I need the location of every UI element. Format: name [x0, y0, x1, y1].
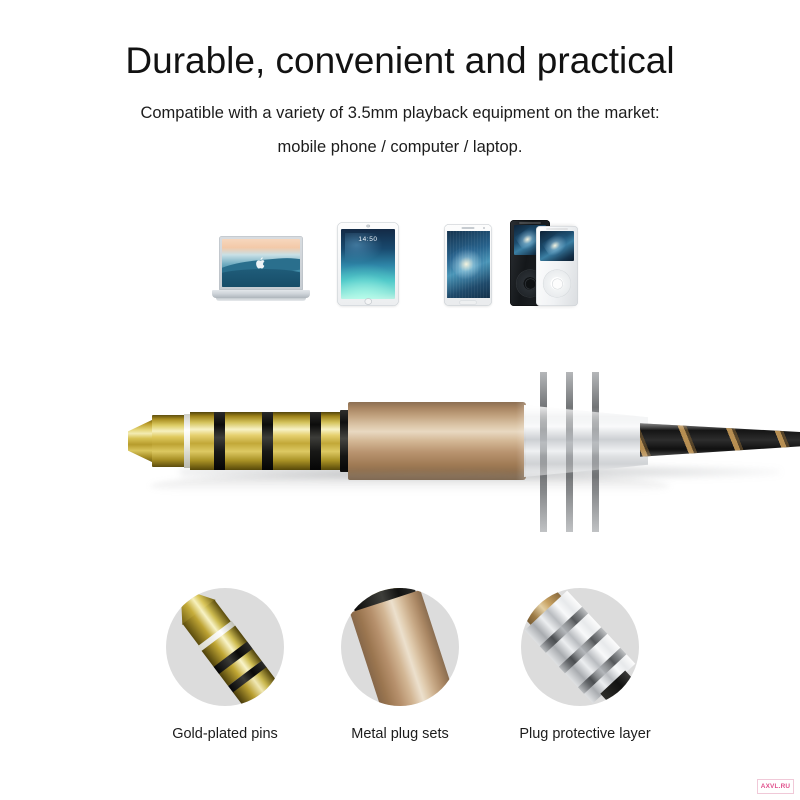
mp3-white-top-bar: [546, 228, 568, 230]
smartphone-camera-icon: [483, 227, 485, 229]
gold-pin-closeup-icon: [166, 588, 284, 706]
mp3-player-white: [536, 226, 578, 306]
plug-tip-segment: [152, 415, 186, 467]
smartphone-icon: [444, 224, 492, 306]
tablet-icon: 14:50: [337, 222, 399, 306]
product-detail-image: Durable, convenient and practical Compat…: [0, 0, 800, 800]
plug-insulator-ring-2: [262, 412, 273, 470]
mp3-black-top-bar: [519, 222, 541, 224]
tablet-home-button: [365, 299, 371, 305]
protective-layer-illustration: [521, 588, 639, 706]
closeup-barrel-body: [350, 590, 456, 706]
plug-metal-barrel: [348, 402, 526, 480]
metal-barrel-illustration: [344, 588, 455, 706]
compatible-devices-row: 14:50: [0, 215, 800, 340]
feature-callouts: Gold-plated pins Metal plug sets: [0, 588, 800, 768]
tablet-body: 14:50: [337, 222, 399, 306]
plug-insulator-ring-3: [310, 412, 321, 470]
cable-highlight: [640, 420, 800, 460]
mp3-white-screen: [540, 231, 574, 261]
smartphone-screen: [447, 231, 490, 298]
metal-barrel-closeup-icon: [341, 588, 459, 706]
laptop-base: [212, 290, 310, 298]
plug-insulator-ring-1: [214, 412, 225, 470]
mp3-white-click-wheel: [544, 270, 571, 297]
smartphone-home-button: [460, 301, 476, 304]
plug-tip-cone: [128, 419, 154, 463]
page-title: Durable, convenient and practical: [0, 40, 800, 83]
subtitle-line-1: Compatible with a variety of 3.5mm playb…: [0, 105, 800, 122]
protective-layer-highlight: [524, 405, 648, 477]
feature-label: Gold-plated pins: [145, 726, 305, 742]
laptop-icon: [212, 236, 310, 306]
watermark-text: AXVL.RU: [761, 783, 790, 790]
feature-gold-plated-pins: Gold-plated pins: [145, 588, 305, 742]
product-hero-3-5mm-plug: [0, 372, 800, 532]
feature-label: Metal plug sets: [320, 726, 480, 742]
smartphone-speaker-icon: [462, 227, 475, 229]
feature-label: Plug protective layer: [510, 726, 660, 742]
tablet-camera-icon: [367, 225, 370, 228]
watermark: AXVL.RU: [757, 779, 794, 794]
feature-plug-protective-layer: Plug protective layer: [500, 588, 660, 742]
product-reflection: [150, 473, 670, 499]
laptop-lid: [219, 236, 303, 290]
mp3-player-icon: [510, 218, 578, 306]
protective-layer-closeup-icon: [521, 588, 639, 706]
laptop-foot: [216, 298, 306, 301]
apple-logo-icon: [256, 256, 267, 269]
smartphone-body: [444, 224, 492, 306]
subtitle-line-2: mobile phone / computer / laptop.: [0, 139, 800, 156]
laptop-screen: [222, 239, 300, 287]
gold-pin-illustration: [173, 588, 278, 706]
tablet-screen: 14:50: [341, 229, 395, 299]
tablet-clock-label: 14:50: [341, 236, 395, 243]
feature-metal-plug-sets: Metal plug sets: [320, 588, 480, 742]
